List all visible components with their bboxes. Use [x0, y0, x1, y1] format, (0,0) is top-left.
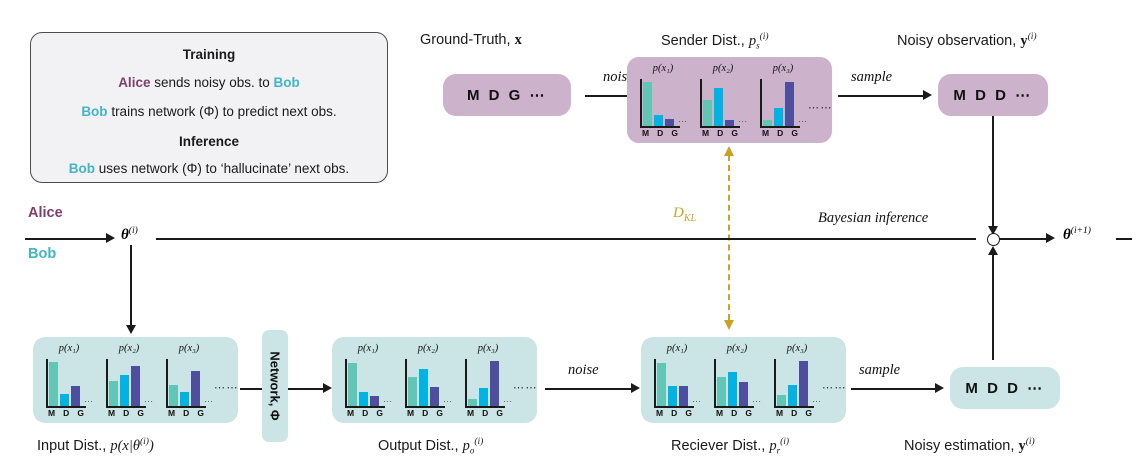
bar-d — [479, 388, 488, 406]
mini-chart-dots: ··· — [678, 117, 688, 126]
alice-label: Alice — [28, 205, 63, 221]
timeline-exit-line — [999, 238, 1047, 240]
inference-line: Bob uses network (Φ) to ‘hallucinate’ ne… — [31, 161, 387, 176]
bar-m — [717, 377, 726, 406]
bar-d — [180, 392, 189, 406]
kl-divergence-label: DKL — [673, 205, 696, 224]
bar-d — [359, 392, 368, 406]
bar-m — [348, 363, 357, 406]
ground-truth-symbol: x — [515, 32, 522, 48]
mini-chart-dots: ··· — [383, 397, 393, 406]
bob-mention: Bob — [81, 104, 107, 119]
mini-chart: p(x₃) M D G ··· — [166, 343, 212, 415]
training-heading: Training — [31, 47, 387, 62]
panel-ellipsis: ⋯⋯ — [214, 381, 239, 394]
tick-d: D — [777, 128, 783, 138]
noise-arrow-bottom-head — [631, 383, 640, 393]
network-box: Network, Φ — [262, 330, 288, 442]
tick-d: D — [63, 408, 69, 418]
bar-d — [60, 394, 69, 406]
mini-chart-title: p(x₃) — [179, 343, 200, 354]
tick-d: D — [422, 408, 428, 418]
mini-chart-title: p(x₂) — [727, 343, 748, 354]
bar-m — [703, 100, 712, 126]
caption-output-dist: Output Dist., po(i) — [378, 437, 483, 456]
bar-g — [191, 371, 200, 406]
mini-chart-dots: ··· — [144, 397, 154, 406]
sender-dist-panel: p(x₁) M D G ··· p(x₂) M D G — [627, 57, 832, 143]
caption-noisy-estimation: Noisy estimation, y(i) — [904, 437, 1035, 455]
caption-ground-truth: Ground-Truth, x — [420, 32, 522, 49]
mini-chart: p(x₂) M D G ··· — [106, 343, 152, 415]
tick-m: M — [108, 408, 115, 418]
bar-d — [774, 108, 783, 126]
sample-arrow-top-line — [838, 95, 924, 97]
mini-chart-title: p(x₁) — [59, 343, 80, 354]
bar-g — [131, 366, 140, 406]
training-line-1-mid: sends noisy obs. to — [150, 75, 273, 90]
tick-m: M — [467, 408, 474, 418]
bar-g — [739, 382, 748, 406]
tick-d: D — [717, 128, 723, 138]
bar-d — [788, 385, 797, 406]
caption-noisy-observation: Noisy observation, y(i) — [897, 32, 1037, 50]
sample-label-top: sample — [851, 69, 892, 86]
bar-g — [71, 386, 80, 406]
tick-m: M — [762, 128, 769, 138]
bar-g — [370, 396, 379, 406]
mini-chart-title: p(x₁) — [653, 63, 674, 74]
theta-to-input-head — [126, 325, 136, 334]
bob-label: Bob — [28, 246, 56, 262]
theta-next-label: θ(i+1) — [1063, 226, 1091, 244]
network-label: Network, Φ — [268, 351, 283, 420]
bar-m — [109, 381, 118, 406]
tick-d: D — [671, 408, 677, 418]
tick-m: M — [702, 128, 709, 138]
tick-m: M — [407, 408, 414, 418]
bar-g — [785, 82, 794, 126]
tick-g: G — [137, 408, 144, 418]
mini-chart: p(x₃) M D G ··· — [760, 63, 806, 135]
receiver-dist-panel: p(x₁) M D G ··· p(x₂) M D G — [641, 337, 846, 423]
noise-label-bottom: noise — [568, 362, 599, 379]
bar-m — [408, 377, 417, 406]
mini-chart: p(x₁) M D G ··· — [46, 343, 92, 415]
theta-to-input-line — [130, 245, 132, 327]
bar-g — [665, 119, 674, 126]
output-dist-panel: p(x₁) M D G ··· p(x₂) M D G — [332, 337, 537, 423]
bar-g — [679, 386, 688, 406]
caption-receiver-dist: Reciever Dist., pr(i) — [671, 437, 789, 456]
tick-m: M — [776, 408, 783, 418]
mini-chart-dots: ··· — [204, 397, 214, 406]
tick-g: G — [376, 408, 383, 418]
mini-chart-dots: ··· — [812, 397, 822, 406]
tick-d: D — [657, 128, 663, 138]
kl-arrow-head-down — [724, 320, 734, 330]
bar-g — [490, 361, 499, 406]
noisy-est-to-merge-line — [992, 248, 994, 360]
bar-d — [654, 115, 663, 126]
network-to-output-head — [323, 383, 332, 393]
tick-g: G — [496, 408, 503, 418]
noisy-estimation-pill: M D D ⋯ — [950, 367, 1060, 409]
sample-label-bottom: sample — [859, 362, 900, 379]
bar-m — [763, 120, 772, 126]
bayesian-inference-label: Bayesian inference — [818, 210, 928, 227]
bar-d — [714, 88, 723, 126]
bar-g — [799, 361, 808, 406]
tick-d: D — [362, 408, 368, 418]
training-line-1: Alice sends noisy obs. to Bob — [31, 75, 387, 90]
mini-chart: p(x₂) M D G ··· — [700, 63, 746, 135]
tick-g: G — [731, 128, 738, 138]
mini-chart-dots: ··· — [692, 397, 702, 406]
bob-mention: Bob — [69, 161, 95, 176]
mini-chart-dots: ··· — [798, 117, 808, 126]
mini-chart-title: p(x₃) — [478, 343, 499, 354]
tick-d: D — [791, 408, 797, 418]
alice-mention: Alice — [118, 75, 150, 90]
mini-chart-dots: ··· — [443, 397, 453, 406]
noisy-observation-pill: M D D ⋯ — [938, 74, 1048, 116]
bar-g — [725, 120, 734, 126]
input-to-network-line — [240, 388, 262, 390]
mini-chart: p(x₁) M D G ··· — [345, 343, 391, 415]
bar-d — [120, 375, 129, 406]
network-to-output-line — [288, 388, 324, 390]
tick-g: G — [436, 408, 443, 418]
tick-g: G — [685, 408, 692, 418]
theta-i-label: θ(i) — [121, 226, 138, 244]
noise-arrow-bottom-line — [545, 388, 632, 390]
tick-m: M — [642, 128, 649, 138]
timeline-trailing-dash — [1116, 238, 1132, 240]
bar-m — [777, 395, 786, 406]
mini-chart-dots: ··· — [738, 117, 748, 126]
tick-d: D — [482, 408, 488, 418]
training-line-2-rest: trains network (Φ) to predict next obs. — [108, 104, 337, 119]
merge-node-circle — [987, 233, 1000, 246]
bar-g — [430, 387, 439, 406]
timeline-entry-line — [25, 238, 107, 240]
tick-g: G — [791, 128, 798, 138]
tick-m: M — [48, 408, 55, 418]
bar-m — [169, 385, 178, 406]
mini-chart-title: p(x₂) — [713, 63, 734, 74]
input-dist-panel: p(x₁) M D G ··· p(x₂) M D G — [33, 337, 238, 423]
figure-canvas: Training Alice sends noisy obs. to Bob B… — [0, 0, 1138, 474]
sample-arrow-top-head — [923, 90, 932, 100]
sample-arrow-bottom-line — [851, 388, 936, 390]
caption-input-dist: Input Dist., p(x|θ(i)) — [37, 437, 154, 455]
bar-m — [643, 82, 652, 126]
timeline-main-line — [156, 238, 976, 240]
sample-arrow-bottom-head — [935, 383, 944, 393]
inference-line-rest: uses network (Φ) to ‘hallucinate’ next o… — [95, 161, 349, 176]
bar-m — [49, 362, 58, 406]
timeline-exit-head — [1046, 233, 1055, 243]
mini-chart-title: p(x₁) — [358, 343, 379, 354]
tick-m: M — [168, 408, 175, 418]
inference-heading: Inference — [31, 134, 387, 149]
panel-ellipsis: ⋯⋯ — [513, 381, 538, 394]
mini-chart: p(x₂) M D G ··· — [714, 343, 760, 415]
tick-g: G — [77, 408, 84, 418]
mini-chart-dots: ··· — [503, 397, 513, 406]
mini-chart-title: p(x₁) — [667, 343, 688, 354]
timeline-entry-head — [106, 233, 115, 243]
tick-d: D — [123, 408, 129, 418]
bob-mention: Bob — [274, 75, 300, 90]
mini-chart: p(x₂) M D G ··· — [405, 343, 451, 415]
training-line-2: Bob trains network (Φ) to predict next o… — [31, 104, 387, 119]
mini-chart: p(x₁) M D G ··· — [654, 343, 700, 415]
noisy-obs-to-merge-line — [992, 116, 994, 229]
mini-chart-dots: ··· — [752, 397, 762, 406]
caption-sender-dist: Sender Dist., ps(i) — [661, 32, 769, 51]
mini-chart-title: p(x₃) — [773, 63, 794, 74]
tick-g: G — [805, 408, 812, 418]
mini-chart-title: p(x₃) — [787, 343, 808, 354]
legend-infobox: Training Alice sends noisy obs. to Bob B… — [30, 32, 388, 183]
tick-g: G — [197, 408, 204, 418]
mini-chart: p(x₃) M D G ··· — [774, 343, 820, 415]
tick-d: D — [731, 408, 737, 418]
bar-d — [728, 372, 737, 406]
tick-g: G — [671, 128, 678, 138]
noisy-est-to-merge-head — [988, 246, 998, 255]
bar-d — [419, 369, 428, 406]
tick-m: M — [716, 408, 723, 418]
tick-m: M — [347, 408, 354, 418]
bar-m — [468, 399, 477, 406]
tick-d: D — [183, 408, 189, 418]
mini-chart-dots: ··· — [84, 397, 94, 406]
tick-g: G — [745, 408, 752, 418]
mini-chart-title: p(x₂) — [418, 343, 439, 354]
mini-chart-title: p(x₂) — [119, 343, 140, 354]
panel-ellipsis: ⋯⋯ — [808, 101, 833, 114]
tick-m: M — [656, 408, 663, 418]
ground-truth-pill: M D G ⋯ — [443, 74, 571, 116]
bar-m — [657, 363, 666, 406]
mini-chart: p(x₁) M D G ··· — [640, 63, 686, 135]
mini-chart: p(x₃) M D G ··· — [465, 343, 511, 415]
bar-d — [668, 386, 677, 406]
panel-ellipsis: ⋯⋯ — [822, 381, 847, 394]
